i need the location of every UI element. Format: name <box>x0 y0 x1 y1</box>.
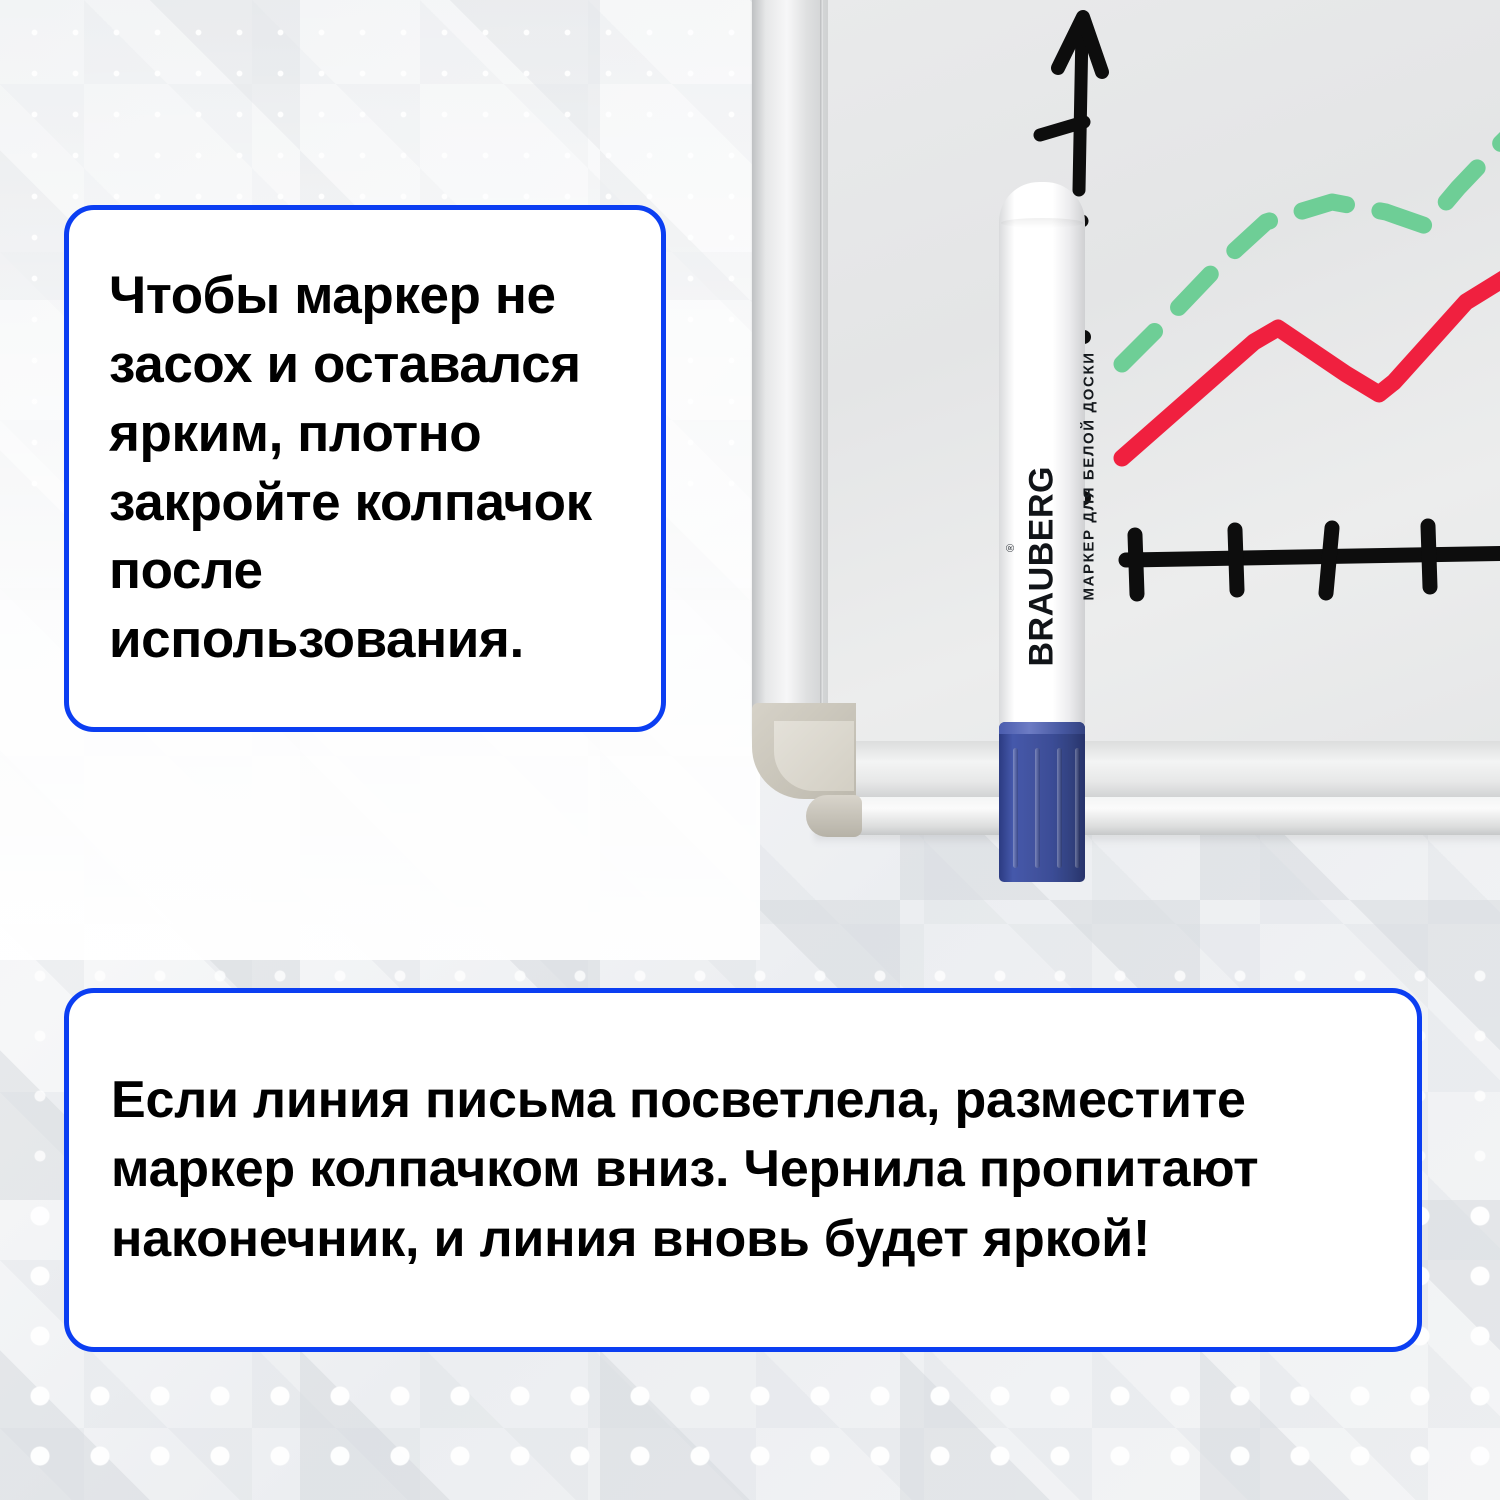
whiteboard-pen-tray <box>814 797 1500 835</box>
chart-y-axis <box>1040 17 1102 190</box>
marker-cap-rib <box>1013 748 1018 868</box>
callout-box-storage-tip: Чтобы маркер не засох и оставался ярким,… <box>64 205 666 732</box>
marker-cap-rib <box>1057 748 1062 868</box>
callout-box-revival-tip: Если линия письма посветлела, разместите… <box>64 988 1422 1352</box>
marker-label-area: ® BRAUBERG МАРКЕР ДЛЯ БЕЛОЙ ДОСКИ <box>999 182 1085 726</box>
whiteboard-frame-seam <box>820 0 823 745</box>
infographic-canvas: ® BRAUBERG МАРКЕР ДЛЯ БЕЛОЙ ДОСКИ Чтобы … <box>0 0 1500 1500</box>
whiteboard-photo <box>744 0 1500 895</box>
handdrawn-chart <box>826 0 1500 630</box>
whiteboard-pen-tray-endcap <box>806 795 862 837</box>
callout-text-2: Если линия письма посветлела, разместите… <box>111 1066 1375 1273</box>
whiteboard-bottom-rail <box>804 741 1500 799</box>
brand-name: BRAUBERG <box>1023 337 1062 667</box>
marker-cap-rib <box>1035 748 1040 868</box>
chart-series-red <box>1122 265 1500 458</box>
registered-trademark-symbol: ® <box>1005 544 1017 552</box>
whiteboard-left-rail <box>752 0 828 775</box>
callout-text-1: Чтобы маркер не засох и оставался ярким,… <box>109 262 621 675</box>
whiteboard-corner-inner <box>774 721 854 791</box>
brauberg-marker: ® BRAUBERG МАРКЕР ДЛЯ БЕЛОЙ ДОСКИ <box>999 182 1085 882</box>
marker-cap-rim <box>999 722 1085 734</box>
marker-cap <box>999 722 1085 882</box>
chart-x-axis <box>1126 524 1500 594</box>
product-description: МАРКЕР ДЛЯ БЕЛОЙ ДОСКИ <box>1081 301 1098 601</box>
marker-cap-rib <box>1075 748 1080 868</box>
